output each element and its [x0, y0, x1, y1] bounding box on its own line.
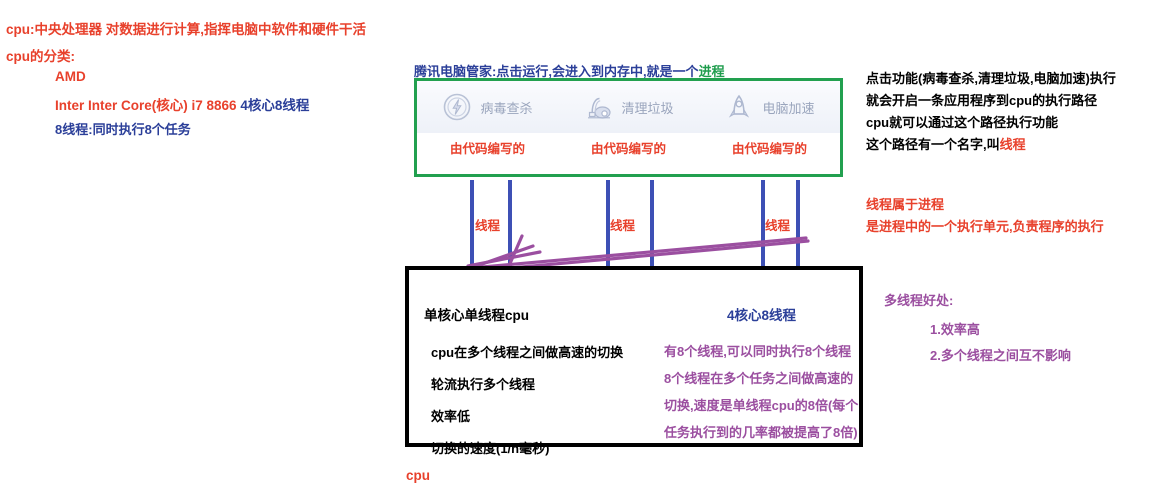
multithread-benefits-title: 多线程好处: [884, 290, 953, 309]
rocket-icon [724, 92, 754, 122]
single-core-line: 轮流执行多个线程 [424, 374, 639, 393]
code-note-virus-scan: 由代码编写的 [417, 138, 558, 157]
thread-line-2b [650, 180, 654, 267]
manager-button-virus-scan[interactable]: 病毒查杀 [417, 92, 558, 122]
single-core-line: 效率低 [424, 406, 639, 425]
multi-core-line: 切换,速度是单线程cpu的8倍(每个 [664, 396, 859, 415]
thread-line-1b [508, 180, 512, 267]
note-intel-model: Inter Inter Core(核心) i7 8866 [55, 98, 240, 113]
thread-label-2: 线程 [610, 215, 635, 234]
vacuum-cleaner-icon [583, 92, 613, 122]
multithread-benefit-1: 1.效率高 [930, 319, 980, 338]
note-cpu-definition: cpu:中央处理器 对数据进行计算,指挥电脑中软件和硬件干活 [6, 18, 366, 38]
manager-caption-main: 腾讯电脑管家:点击运行,会进入到内存中,就是一个 [414, 64, 699, 79]
thread-label-1: 线程 [475, 215, 500, 234]
single-core-line: cpu在多个线程之间做高速的切换 [424, 342, 639, 361]
cpu-box-caption: cpu [406, 468, 430, 483]
thread-note-line-3: cpu就可以通过这个路径执行功能 [866, 112, 1116, 134]
cpu-comparison-box: 单核心单线程cpu cpu在多个线程之间做高速的切换 轮流执行多个线程 效率低 … [405, 266, 863, 447]
thread-def-line-1: 线程属于进程 [866, 194, 1104, 216]
thread-line-3b [796, 180, 800, 267]
multi-core-line: 8个线程在多个任务之间做高速的 [664, 369, 859, 388]
thread-note-line-1: 点击功能(病毒查杀,清理垃圾,电脑加速)执行 [866, 68, 1116, 90]
manager-button-label: 电脑加速 [762, 98, 814, 117]
thread-note-line-4-highlight: 线程 [1000, 137, 1026, 152]
multi-core-line: 有8个线程,可以同时执行8个线程 [664, 342, 859, 361]
shield-lightning-icon [442, 92, 472, 122]
thread-label-3: 线程 [765, 215, 790, 234]
multithread-benefit-2: 2.多个线程之间互不影响 [930, 345, 1071, 364]
manager-button-pc-boost[interactable]: 电脑加速 [699, 92, 840, 122]
cpu-multi-core-column: 4核心8线程 有8个线程,可以同时执行8个线程 8个线程在多个任务之间做高速的 … [664, 304, 859, 450]
thread-note-line-2: 就会开启一条应用程序到cpu的执行路径 [866, 90, 1116, 112]
single-core-line: 切换的速度(1/n毫秒) [424, 438, 639, 457]
thread-note-line-4-text: 这个路径有一个名字,叫 [866, 137, 1000, 152]
note-threads-desc: 同时执行8个任务 [93, 122, 191, 137]
note-intel-cpu: Inter Inter Core(核心) i7 8866 4核心8线程 [55, 94, 309, 114]
note-amd: AMD [55, 69, 86, 84]
multi-core-line: 任务执行到的几率都被提高了8倍) [664, 423, 859, 442]
thread-definition-notes: 线程属于进程 是进程中的一个执行单元,负责程序的执行 [866, 194, 1104, 238]
thread-note-line-4: 这个路径有一个名字,叫线程 [866, 134, 1116, 156]
thread-def-line-2: 是进程中的一个执行单元,负责程序的执行 [866, 216, 1104, 238]
single-core-title: 单核心单线程cpu [424, 304, 639, 324]
thread-explanation-notes: 点击功能(病毒查杀,清理垃圾,电脑加速)执行 就会开启一条应用程序到cpu的执行… [866, 68, 1116, 156]
pc-manager-toolbar: 病毒查杀 清理垃圾 [417, 81, 840, 133]
manager-caption-highlight: 进程 [699, 64, 725, 79]
cpu-single-core-column: 单核心单线程cpu cpu在多个线程之间做高速的切换 轮流执行多个线程 效率低 … [424, 304, 639, 470]
manager-button-clean-junk[interactable]: 清理垃圾 [558, 92, 699, 122]
note-eight-threads: 8线程:同时执行8个任务 [55, 119, 191, 138]
manager-button-label: 病毒查杀 [480, 98, 532, 117]
code-note-pc-boost: 由代码编写的 [699, 138, 840, 157]
note-threads-label: 8线程: [55, 122, 93, 137]
thread-line-1a [470, 180, 474, 267]
pc-manager-panel: 病毒查杀 清理垃圾 [414, 78, 843, 177]
note-intel-cores: 4核心8线程 [240, 98, 309, 113]
code-note-clean-junk: 由代码编写的 [558, 138, 699, 157]
multi-core-title: 4核心8线程 [664, 304, 859, 324]
manager-code-annotations: 由代码编写的 由代码编写的 由代码编写的 [417, 138, 840, 157]
manager-button-label: 清理垃圾 [621, 98, 673, 117]
note-cpu-classification: cpu的分类: [6, 45, 75, 65]
